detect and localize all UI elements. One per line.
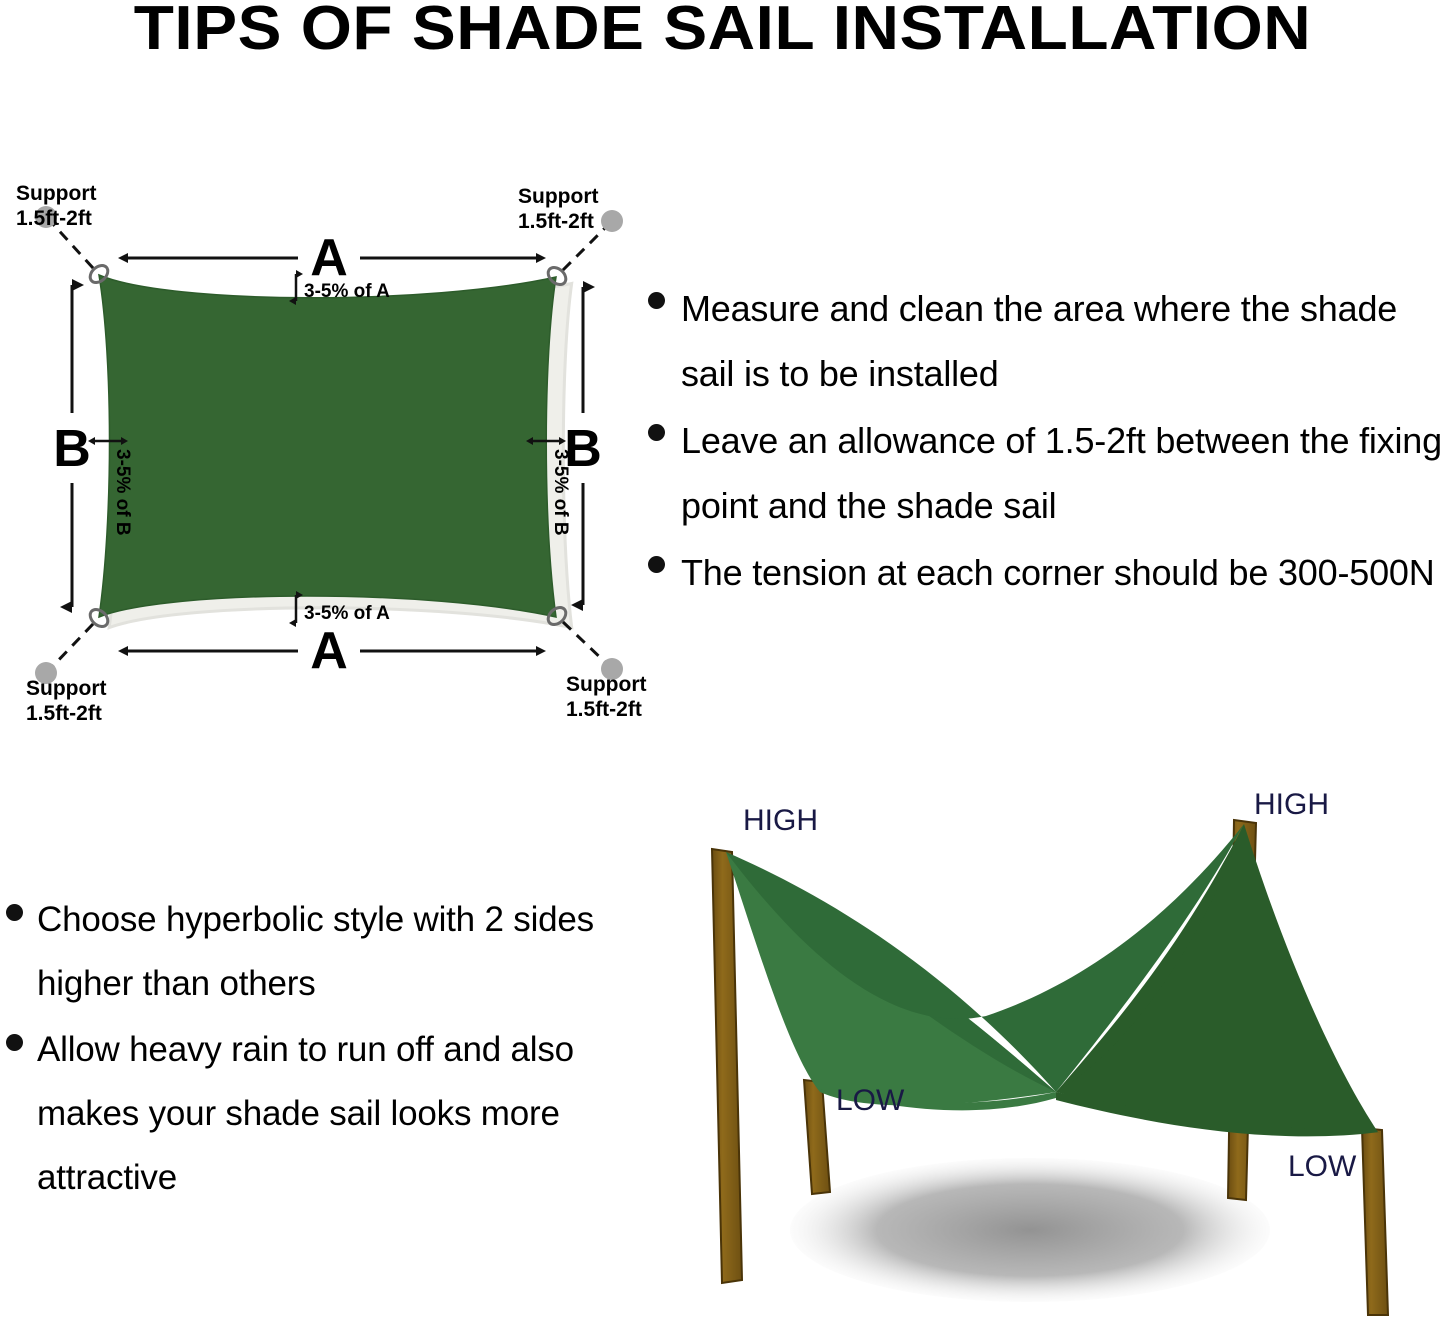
support-label-line2: 1.5ft-2ft xyxy=(26,702,102,725)
post-low-right xyxy=(1362,1128,1388,1315)
support-label-line2: 1.5ft-2ft xyxy=(518,210,594,233)
post-high-left xyxy=(712,849,742,1283)
support-label-line2: 1.5ft-2ft xyxy=(566,698,642,721)
dimension-label-A-bottom: A xyxy=(310,622,348,680)
tip-text: Measure and clean the area where the sha… xyxy=(681,276,1445,406)
list-item: Measure and clean the area where the sha… xyxy=(648,276,1445,406)
tether-bottom-left xyxy=(52,624,93,667)
tether-top-right xyxy=(563,227,606,270)
tips-list-bottom-left: Choose hyperbolic style with 2 sides hig… xyxy=(0,888,640,1212)
dimension-width-bottom: A xyxy=(128,622,536,680)
label-high-left: HIGH xyxy=(743,804,818,837)
label-low-right: LOW xyxy=(1288,1150,1357,1183)
tip-text: The tension at each corner should be 300… xyxy=(681,540,1445,605)
curvature-note-top-text: 3-5% of A xyxy=(304,281,390,302)
infographic-page: TIPS OF SHADE SAIL INSTALLATION xyxy=(0,0,1445,1319)
ground-shadow xyxy=(790,1158,1270,1302)
dimension-height-left: B xyxy=(53,285,91,607)
support-label-line1: Support xyxy=(16,182,96,205)
bullet-dot-icon xyxy=(648,556,665,573)
tip-text: Leave an allowance of 1.5-2ft between th… xyxy=(681,408,1445,538)
curvature-note-left-text: 3-5% of B xyxy=(112,449,133,536)
support-label-line1: Support xyxy=(566,673,646,696)
tip-text: Choose hyperbolic style with 2 sides hig… xyxy=(37,888,640,1016)
support-label-line1: Support xyxy=(26,677,106,700)
bullet-dot-icon xyxy=(6,1034,23,1051)
anchor-top-right xyxy=(601,210,623,232)
bullet-dot-icon xyxy=(648,292,665,309)
support-label-top-right: Support 1.5ft-2ft xyxy=(518,185,598,233)
post-low-left xyxy=(804,1080,830,1194)
rectangular-sail-diagram: Support 1.5ft-2ft Support 1.5ft-2ft Supp… xyxy=(0,155,660,735)
page-title: TIPS OF SHADE SAIL INSTALLATION xyxy=(0,0,1445,64)
list-item: Allow heavy rain to run off and also mak… xyxy=(0,1018,640,1210)
support-label-bottom-left: Support 1.5ft-2ft xyxy=(26,677,106,725)
dimension-label-A-top: A xyxy=(310,229,348,287)
tips-list-right: Measure and clean the area where the sha… xyxy=(648,276,1445,607)
dimension-width-top: A xyxy=(128,229,536,287)
dimension-height-right: B xyxy=(564,287,602,605)
label-high-right: HIGH xyxy=(1254,788,1329,821)
dimension-label-B-left: B xyxy=(53,420,91,478)
curvature-note-right-text: 3-5% of B xyxy=(550,449,571,536)
label-low-left: LOW xyxy=(836,1084,905,1117)
list-item: Leave an allowance of 1.5-2ft between th… xyxy=(648,408,1445,538)
hyperbolic-sail-illustration: HIGH HIGH LOW LOW xyxy=(640,780,1445,1319)
support-label-bottom-right: Support 1.5ft-2ft xyxy=(566,673,646,721)
tip-text: Allow heavy rain to run off and also mak… xyxy=(37,1018,640,1210)
tether-bottom-right xyxy=(563,622,606,663)
support-label-line1: Support xyxy=(518,185,598,208)
list-item: The tension at each corner should be 300… xyxy=(648,540,1445,605)
list-item: Choose hyperbolic style with 2 sides hig… xyxy=(0,888,640,1016)
support-label-line2: 1.5ft-2ft xyxy=(16,207,92,230)
bullet-dot-icon xyxy=(6,904,23,921)
curvature-note-bottom-text: 3-5% of A xyxy=(304,603,390,624)
sail-body xyxy=(99,275,556,617)
support-label-top-left: Support 1.5ft-2ft xyxy=(16,182,96,230)
curvature-note-left: 3-5% of B xyxy=(95,441,133,536)
bullet-dot-icon xyxy=(648,424,665,441)
